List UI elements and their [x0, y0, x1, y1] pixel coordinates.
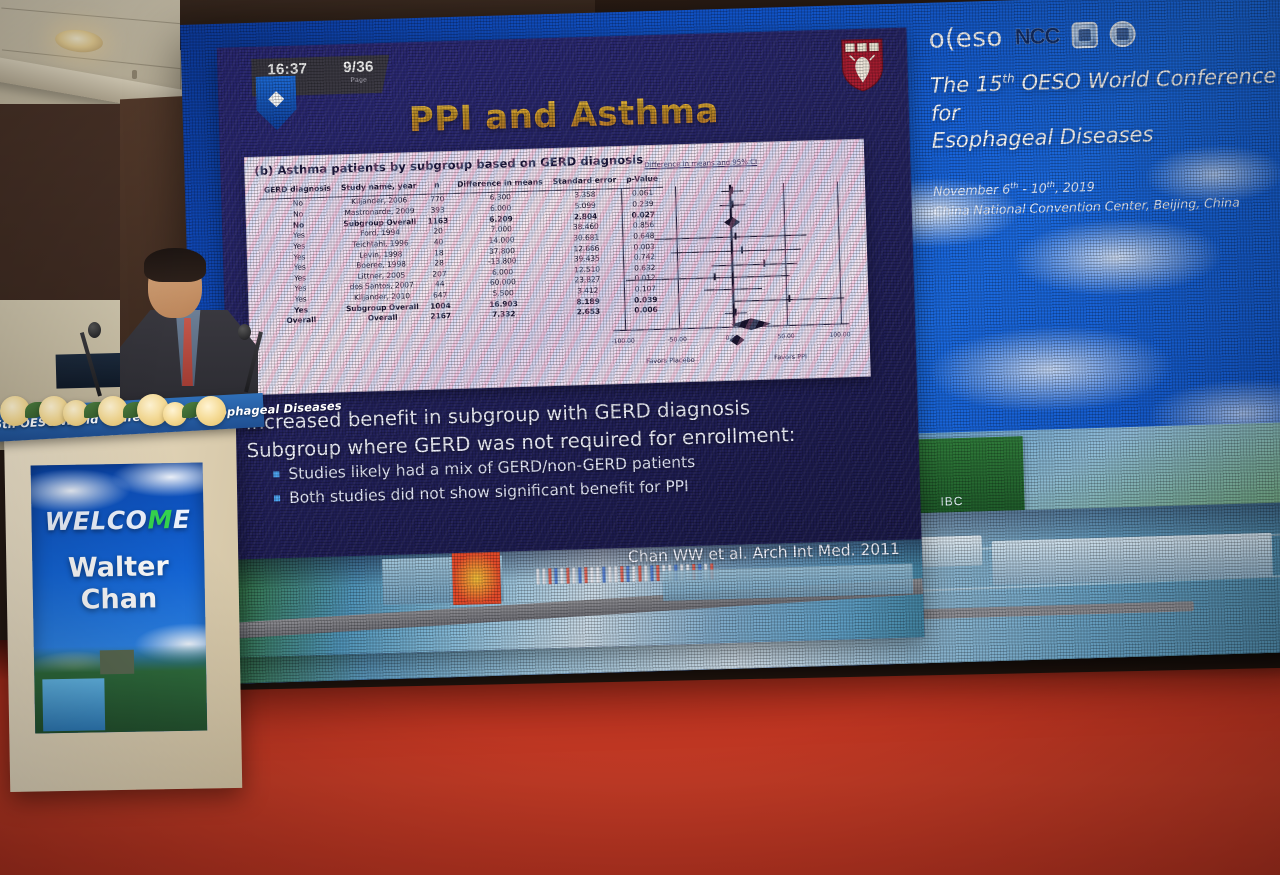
welcome-accent-letter: M: [147, 505, 173, 534]
speaker-last-name: Chan: [80, 583, 157, 615]
forest-plot-title: Difference in means and 95% CI: [644, 158, 757, 169]
ncc-logo: NCC: [1014, 23, 1059, 50]
figure-caption: (b) Asthma patients by subgroup based on…: [254, 152, 643, 178]
harvard-medical-school-shield-icon: [839, 36, 887, 93]
cell-study: Overall: [340, 311, 426, 324]
led-video-wall: o(eso NCC The 15th OESO World Conference…: [180, 0, 1280, 685]
date-sup-2: th: [1047, 180, 1055, 189]
slide-bullets: Increased benefit in subgroup with GERD …: [245, 390, 906, 511]
institution-seal-icon-2: [1109, 21, 1136, 48]
cell-difference: 7.332: [456, 308, 552, 321]
forest-gridline-100: [837, 182, 843, 324]
podium: WELCOME Walter Chan: [4, 428, 242, 792]
cell-gerd: Overall: [263, 314, 340, 327]
podium-welcome-screen: WELCOME Walter Chan: [31, 463, 208, 734]
forest-plot: Difference in means and 95% CI: [600, 155, 858, 374]
date-post: , 2019: [1055, 179, 1095, 195]
cell-n: 770: [422, 193, 453, 205]
forest-xtick-2: 0.00: [725, 335, 739, 342]
conference-branding: o(eso NCC The 15th OESO World Conference…: [928, 12, 1280, 220]
sprinkler-icon: [132, 70, 137, 79]
presenter-timer: 16:37 Time 9/36 Page: [251, 55, 390, 97]
presentation-slide: 16:37 Time 9/36 Page PP: [217, 27, 925, 657]
timer-time-value: 16:37: [267, 61, 307, 78]
speaker-first-name: Walter: [68, 551, 169, 584]
rose: [196, 396, 226, 426]
forest-xtick-3: 50.00: [777, 333, 794, 341]
forest-gridline-50: [783, 183, 789, 325]
microphone-head-right: [238, 324, 251, 340]
microphone-head-left: [88, 322, 101, 338]
forest-gridline-neg50: [675, 186, 681, 328]
conference-title: The 15th OESO World Conference for Esoph…: [930, 62, 1280, 156]
welcome-heading: WELCOME: [31, 505, 203, 537]
forest-label-favors-ppi: Favors PPI: [774, 353, 807, 362]
timer-page: 9/36 Page: [343, 59, 374, 84]
forest-diamond-subgroup-no: [724, 216, 740, 227]
forest-axis-line: [613, 323, 849, 331]
welcome-pre: WELCO: [44, 506, 147, 537]
conference-title-line2: Esophageal Diseases: [931, 123, 1153, 154]
photo-scene: o(eso NCC The 15th OESO World Conference…: [0, 0, 1280, 875]
figure-panel: (b) Asthma patients by subgroup based on…: [244, 139, 871, 395]
flower-arrangement: [0, 368, 262, 426]
timer-page-value: 9/36: [343, 59, 374, 76]
logo-row: o(eso NCC: [928, 12, 1279, 56]
col-n: n: [421, 181, 452, 194]
forest-gridline-neg100: [621, 188, 627, 330]
ceiling-light: [54, 28, 104, 55]
timer-page-label: Page: [343, 76, 374, 84]
ibc-building-label: IBC: [940, 494, 963, 509]
welcome-speaker-name: Walter Chan: [32, 551, 205, 618]
square-bullet-icon: [274, 495, 280, 501]
conference-title-ordinal: th: [1002, 71, 1015, 85]
forest-xtick-0: -100.00: [611, 338, 634, 346]
forest-xtick-1: -50.00: [667, 336, 687, 344]
date-pre: November 6: [933, 182, 1010, 199]
conference-title-pre: The 15: [930, 72, 1003, 98]
welcome-post: E: [173, 505, 191, 534]
institution-seal-icon-1: [1071, 22, 1098, 49]
square-bullet-icon: [273, 472, 279, 478]
forest-xtick-4: 100.00: [829, 331, 850, 339]
forest-diamond-subgroup-yes: [731, 318, 771, 331]
date-mid: - 10: [1018, 181, 1047, 197]
forest-label-favors-placebo: Favors Placebo: [646, 356, 695, 365]
oeso-logo: o(eso: [928, 23, 1003, 55]
great-wall-tower: [99, 650, 133, 675]
cell-n: 2167: [425, 311, 456, 323]
podium-screen-building: [42, 678, 105, 731]
speaker-hair: [144, 248, 206, 282]
